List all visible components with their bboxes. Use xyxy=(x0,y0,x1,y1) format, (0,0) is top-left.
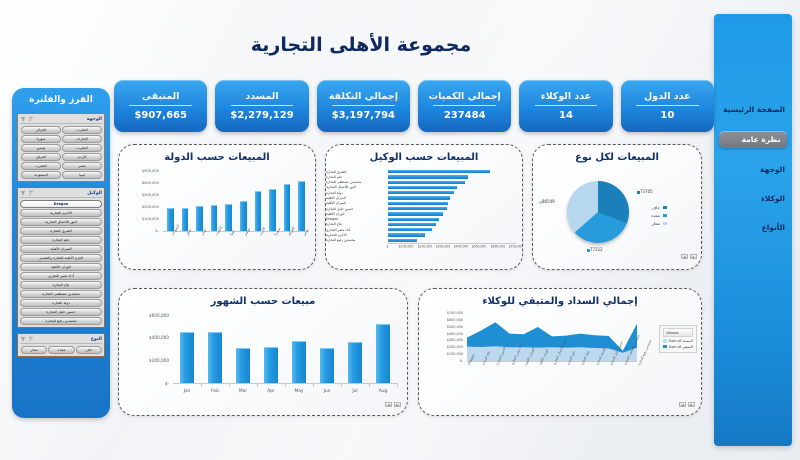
chart-title: مبيعات حسب الشهور xyxy=(119,289,407,307)
nav-item-overview[interactable]: نظرة عامة xyxy=(719,131,786,148)
kpi-card-quantities[interactable]: إجمالي الكميات 237484 xyxy=(418,80,511,132)
x-axis-tick: محمدين رفيع للتجارة xyxy=(637,339,652,366)
chart-prev-button[interactable]: ◄ xyxy=(679,402,686,407)
filter-icon[interactable] xyxy=(20,116,26,122)
chart-card-sales-by-agent: المبيعات حسب الوكيل الشرق للتجارةحلم الت… xyxy=(325,144,523,270)
slicer-options: المغرب الجزائر الإمارات سوريا المغرب تون… xyxy=(20,126,102,179)
x-axis-tick: $600,000 xyxy=(490,245,505,248)
y-axis-tick: $600,000 xyxy=(123,313,169,318)
slicer-title: الوكيل xyxy=(87,191,102,196)
nav-item-home[interactable]: الصفحة الرئيسية xyxy=(714,102,792,117)
kpi-value: 14 xyxy=(559,106,573,121)
slicer-option[interactable]: Dragon xyxy=(20,200,102,208)
sort-icon[interactable] xyxy=(28,116,34,122)
y-axis-tick: $500,000 xyxy=(121,169,159,173)
legend-swatch xyxy=(663,222,667,226)
bar xyxy=(388,212,443,215)
chart-legend: جافمجددمحار xyxy=(651,205,667,229)
chart-nav-buttons: ◄► xyxy=(679,402,695,407)
kpi-value: $2,279,129 xyxy=(230,106,293,121)
kpi-card-countries[interactable]: عدد الدول 10 xyxy=(621,80,714,132)
y-axis-tick: $400,000 xyxy=(121,181,159,185)
bar xyxy=(388,170,490,173)
chart-title: المبيعات لكل نوع xyxy=(533,145,701,163)
bar xyxy=(240,201,247,231)
pie-data-label: 77212 xyxy=(585,247,603,252)
x-axis-gridline xyxy=(341,383,342,387)
legend-swatch xyxy=(663,214,667,218)
y-axis-tick: الأخرم التجارية xyxy=(326,233,384,237)
slicer-option[interactable]: محمدين مصطفى للتجارة xyxy=(20,290,102,298)
kpi-card-total-cost[interactable]: إجمالي التكلفة $3,197,794 xyxy=(317,80,410,132)
slicer-option[interactable]: سوريا xyxy=(21,135,61,143)
slicer-option[interactable]: الميزان الأهلية xyxy=(20,245,102,253)
x-axis-gridline xyxy=(313,383,314,387)
area-chart-svg xyxy=(467,313,637,361)
filter-panel-title: الفرز والفلترة xyxy=(17,93,105,108)
legend-item[interactable]: محار xyxy=(651,221,667,226)
chart-plot-area: الشرق للتجارةحلم التجارةمحمدين مصطفى للت… xyxy=(326,163,522,261)
legend-label: Sum of المتبقي xyxy=(669,345,693,349)
slicer-destination[interactable]: الوجهة المغرب الجزائر الإمارات سوريا الم… xyxy=(17,113,105,182)
bar xyxy=(211,205,218,231)
y-axis-tick: $500,000 xyxy=(421,325,463,329)
slicer-option[interactable]: حلم التجارة xyxy=(20,236,102,244)
legend-item[interactable]: جاف xyxy=(651,205,667,210)
legend-label: محار xyxy=(652,221,660,226)
y-axis-tick: $400,000 xyxy=(421,332,463,336)
slicer-option[interactable]: المغرب xyxy=(21,162,61,170)
slicer-header: الوكيل xyxy=(20,190,102,198)
nav-item-destination[interactable]: الوجهة xyxy=(714,162,792,177)
y-axis-tick: $200,000 xyxy=(121,205,159,209)
legend-label: Sum of المسدد xyxy=(669,339,693,343)
chart-plot-area: $-$200,000$400,000$600,000JanFebMarAprMa… xyxy=(119,307,407,407)
legend-title: Values xyxy=(663,328,693,337)
slicer-header: النوع xyxy=(20,336,102,344)
x-axis-tick: $100,000 xyxy=(399,245,414,248)
slicer-option[interactable]: حسين خليل للتجارة xyxy=(20,308,102,316)
page-title: مجموعة الأهلى التجارية xyxy=(0,34,722,56)
x-axis-tick: Mar xyxy=(229,389,257,394)
slicer-option[interactable]: بلاج التجارة xyxy=(20,281,102,289)
x-axis-tick: Jul xyxy=(341,389,369,394)
bar xyxy=(388,233,425,236)
bar xyxy=(298,181,305,231)
bar xyxy=(208,332,222,383)
legend-item[interactable]: Sum of المسدد xyxy=(663,339,693,343)
slicer-agent[interactable]: الوكيل Dragon الأخرم التجارية النور للأع… xyxy=(17,187,105,328)
chart-plot-area: $-$100,000$200,000$300,000$400,000$500,0… xyxy=(419,307,701,407)
bar xyxy=(292,341,306,384)
chart-card-sales-by-country: المبيعات حسب الدولة $-$100,000$200,000$3… xyxy=(118,144,316,270)
slicer-option[interactable]: ليبيا xyxy=(62,171,102,179)
legend-swatch xyxy=(663,345,667,349)
slicer-option[interactable]: محمدين رفيع للتجارة xyxy=(20,317,102,325)
bar xyxy=(388,207,447,210)
y-axis-tick: $- xyxy=(421,359,463,363)
slicer-option[interactable]: الجزائر xyxy=(21,126,61,134)
y-axis-tick: بلاج التجارة xyxy=(326,222,384,226)
chart-title: إجمالي السداد والمتبقي للوكلاء xyxy=(419,289,701,307)
dashboard-root: الصفحة الرئيسية نظرة عامة الوجهة الوكلاء… xyxy=(0,0,800,460)
pie-chart xyxy=(567,181,629,243)
slicer-option[interactable]: النور للأعمال التجارية xyxy=(20,218,102,226)
bar xyxy=(348,342,362,383)
legend-swatch xyxy=(663,339,667,343)
y-axis-tick: النور للأعمال التجارية xyxy=(326,185,384,189)
slicer-option[interactable]: الوزان الأهلية xyxy=(20,263,102,271)
slicer-option[interactable]: مصر xyxy=(62,162,102,170)
slicer-option[interactable]: مجدد xyxy=(48,346,74,354)
bar xyxy=(388,218,439,221)
filter-icon[interactable] xyxy=(20,336,26,342)
bar xyxy=(167,208,174,231)
sort-icon[interactable] xyxy=(28,190,34,196)
y-axis-tick: $700,000 xyxy=(421,311,463,315)
x-axis-tick: $700,000 xyxy=(509,245,523,248)
x-axis-tick: Jun xyxy=(313,389,341,394)
slicer-header: الوجهة xyxy=(20,116,102,124)
slicer-tools xyxy=(20,336,34,342)
pie-data-label: 73705 xyxy=(635,189,653,194)
y-axis-tick: $300,000 xyxy=(121,193,159,197)
chart-card-sales-by-month: مبيعات حسب الشهور $-$200,000$400,000$600… xyxy=(118,288,408,416)
y-axis-tick: الميزان الأهلية xyxy=(326,196,384,200)
nav-item-agents[interactable]: الوكلاء xyxy=(714,191,792,206)
y-axis-tick: أداء مصر التجاري xyxy=(326,228,384,232)
chart-nav-buttons: ◄► xyxy=(385,402,401,407)
slicer-title: النوع xyxy=(91,337,102,342)
bar xyxy=(236,348,250,383)
pie-value: 86549 xyxy=(542,199,555,204)
pie-value: 73705 xyxy=(640,189,653,194)
bar xyxy=(388,196,450,199)
kpi-card-remaining[interactable]: المتبقى $907,665 xyxy=(114,80,207,132)
bar xyxy=(269,189,276,231)
legend-label: مجدد xyxy=(651,213,660,218)
chart-prev-button[interactable]: ◄ xyxy=(385,402,392,407)
chart-title: المبيعات حسب الوكيل xyxy=(326,145,522,163)
kpi-card-agents[interactable]: عدد الوكلاء 14 xyxy=(519,80,612,132)
x-axis-gridline xyxy=(257,383,258,387)
chart-plot-area: $-$100,000$200,000$300,000$400,000$500,0… xyxy=(119,163,315,261)
chart-card-paid-vs-remaining: إجمالي السداد والمتبقي للوكلاء $-$100,00… xyxy=(418,288,702,416)
kpi-label: عدد الوكلاء xyxy=(541,91,592,105)
slicer-option[interactable]: الأردن xyxy=(62,153,102,161)
chart-prev-button[interactable]: ◄ xyxy=(681,254,688,259)
nav-rail: الصفحة الرئيسية نظرة عامة الوجهة الوكلاء… xyxy=(714,14,792,446)
bar xyxy=(180,332,194,383)
bar xyxy=(255,191,262,231)
kpi-label: المسدد xyxy=(245,91,278,105)
chart-next-button[interactable]: ► xyxy=(688,402,695,407)
kpi-value: $907,665 xyxy=(134,106,187,121)
kpi-label: إجمالي التكلفة xyxy=(329,91,398,105)
bar xyxy=(196,206,203,231)
x-axis-tick: Apr xyxy=(257,389,285,394)
filter-icon[interactable] xyxy=(20,190,26,196)
y-axis-tick: Dragon xyxy=(326,217,384,221)
bar xyxy=(388,239,417,242)
x-axis-gridline xyxy=(229,383,230,387)
bar xyxy=(284,184,291,231)
slicer-options: Dragon الأخرم التجارية النور للأعمال الت… xyxy=(20,200,102,325)
x-axis-gridline xyxy=(201,383,202,387)
nav-item-types[interactable]: الأنواع xyxy=(714,220,792,235)
bar xyxy=(388,175,468,178)
x-axis-tick: $500,000 xyxy=(472,245,487,248)
x-axis-gridline xyxy=(285,383,286,387)
bar xyxy=(225,204,232,231)
slicer-type[interactable]: النوع جاف مجدد محار xyxy=(17,333,105,357)
y-axis-tick: الشرق للتجارة xyxy=(326,170,384,174)
kpi-label: عدد الدول xyxy=(644,91,691,105)
y-axis-tick: الميزان الأهلية xyxy=(326,201,384,205)
slicer-option[interactable]: دولة التجارة xyxy=(20,299,102,307)
legend-swatch xyxy=(663,206,667,210)
y-axis-tick: $100,000 xyxy=(421,352,463,356)
kpi-value: 237484 xyxy=(444,106,486,121)
bar xyxy=(388,191,454,194)
chart-legend: ValuesSum of المسددSum of المتبقي xyxy=(659,325,697,353)
x-axis-tick: $400,000 xyxy=(454,245,469,248)
x-axis-tick: Aug xyxy=(369,389,397,394)
legend-item[interactable]: مجدد xyxy=(651,213,667,218)
bar xyxy=(388,228,432,231)
y-axis-tick: $- xyxy=(121,229,159,233)
chart-next-button[interactable]: ► xyxy=(690,254,697,259)
y-axis-tick: $- xyxy=(123,381,169,386)
slicer-options: جاف مجدد محار xyxy=(20,346,102,354)
chart-card-sales-by-type: المبيعات لكل نوع 737057721286549جافمجددم… xyxy=(532,144,702,270)
y-axis-tick: حسين خليل للتجارة xyxy=(326,207,384,211)
y-axis-tick: $600,000 xyxy=(421,318,463,322)
legend-label: جاف xyxy=(652,205,660,210)
bar xyxy=(388,223,436,226)
pie-value: 77212 xyxy=(590,247,603,252)
slicer-option[interactable]: الشرق للتجارة xyxy=(20,227,102,235)
kpi-row: عدد الدول 10 عدد الوكلاء 14 إجمالي الكمي… xyxy=(114,80,714,132)
y-axis-tick: محمدين مصطفى للتجارة xyxy=(326,180,384,184)
kpi-value: 10 xyxy=(660,106,674,121)
x-axis-tick: $- xyxy=(386,245,389,248)
chart-next-button[interactable]: ► xyxy=(394,402,401,407)
chart-nav-buttons: ◄► xyxy=(681,254,697,259)
y-axis-tick: حلم التجارة xyxy=(326,175,384,179)
bar xyxy=(388,186,457,189)
y-axis-tick: $200,000 xyxy=(421,345,463,349)
x-axis-gridline xyxy=(397,383,398,387)
slicer-title: الوجهة xyxy=(87,117,102,122)
slicer-option[interactable]: جاف xyxy=(76,346,102,354)
slicer-option[interactable]: أداء مصر التجاري xyxy=(20,272,102,280)
slicer-option[interactable]: الأخرم التجارية xyxy=(20,209,102,217)
filter-panel: الفرز والفلترة الوجهة المغرب الجزائر الإ… xyxy=(12,88,110,418)
kpi-label: المتبقى xyxy=(142,91,179,105)
chart-title: المبيعات حسب الدولة xyxy=(119,145,315,163)
y-axis-tick: $200,000 xyxy=(123,358,169,363)
x-axis-tick: $300,000 xyxy=(436,245,451,248)
kpi-card-paid[interactable]: المسدد $2,279,129 xyxy=(215,80,308,132)
bar xyxy=(388,181,465,184)
y-axis-tick: $400,000 xyxy=(123,335,169,340)
y-axis-tick: الوزان الأهلية xyxy=(326,212,384,216)
y-axis-tick: $100,000 xyxy=(121,217,159,221)
chart-plot-area: 737057721286549جافمجددمحار◄► xyxy=(533,163,701,261)
y-axis-tick: دولة التجارة xyxy=(326,191,384,195)
bar xyxy=(182,208,189,231)
bar xyxy=(320,348,334,383)
slicer-option[interactable]: السعودية xyxy=(21,171,61,179)
kpi-value: $3,197,794 xyxy=(332,106,395,121)
slicer-option[interactable]: محار xyxy=(21,346,47,354)
x-axis-tick: $200,000 xyxy=(417,245,432,248)
x-axis-tick: Jan xyxy=(173,389,201,394)
pie-data-label: 86549 xyxy=(537,199,555,204)
slicer-option[interactable]: العراق xyxy=(21,153,61,161)
slicer-option[interactable]: الإمارات xyxy=(62,135,102,143)
x-axis-tick: Feb xyxy=(201,389,229,394)
slicer-tools xyxy=(20,116,34,122)
x-axis-tick: May xyxy=(285,389,313,394)
bar xyxy=(376,324,390,383)
y-axis-tick: $300,000 xyxy=(421,338,463,342)
x-axis-gridline xyxy=(369,383,370,387)
slicer-option[interactable]: العزم الأهلية للتجارة والتصدير xyxy=(20,254,102,262)
slicer-option[interactable]: تونس xyxy=(21,144,61,152)
y-axis-tick: محمدين رفيع للتجارة xyxy=(326,238,384,242)
sort-icon[interactable] xyxy=(28,336,34,342)
bar xyxy=(388,202,448,205)
bar xyxy=(264,347,278,383)
slicer-tools xyxy=(20,190,34,196)
slicer-option[interactable]: المغرب xyxy=(62,144,102,152)
slicer-option[interactable]: المغرب xyxy=(62,126,102,134)
legend-item[interactable]: Sum of المتبقي xyxy=(663,345,693,349)
x-axis-line xyxy=(388,243,516,244)
kpi-label: إجمالي الكميات xyxy=(429,91,501,105)
